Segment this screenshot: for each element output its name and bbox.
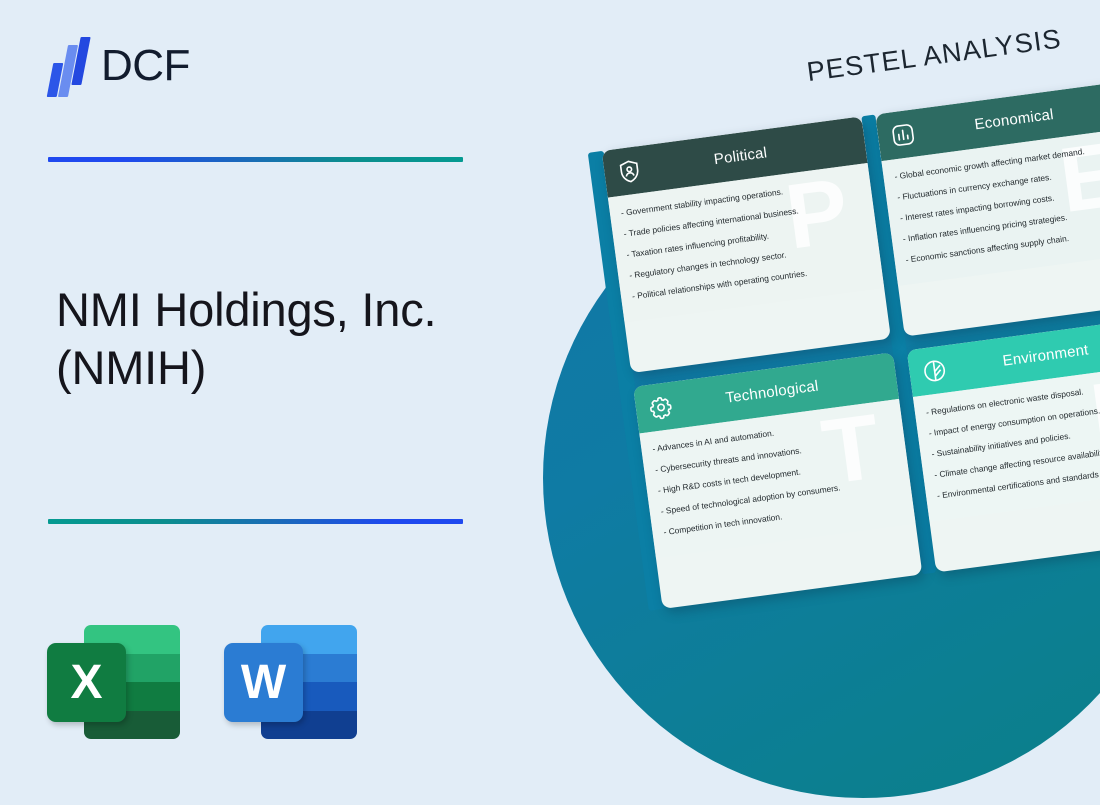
bar-chart-icon	[888, 120, 917, 149]
excel-badge-letter: X	[47, 643, 126, 722]
quadrant-environment[interactable]: Environment E Regulations on electronic …	[907, 316, 1100, 573]
pestel-grid: Political P Government stability impacti…	[602, 82, 1100, 609]
shield-person-icon	[615, 156, 644, 185]
left-info-column: DCF NMI Holdings, Inc. (NMIH) X W	[0, 0, 545, 805]
divider-bottom	[48, 519, 463, 524]
quadrant-political[interactable]: Political P Government stability impacti…	[602, 116, 891, 373]
quadrant-technological-list: Advances in AI and automation. Cybersecu…	[652, 413, 902, 536]
brand-name: DCF	[101, 44, 190, 91]
gear-icon	[646, 392, 675, 421]
pestel-heading: PESTEL ANALYSIS	[805, 23, 1063, 88]
divider-top	[48, 157, 463, 162]
page-title: NMI Holdings, Inc. (NMIH)	[56, 281, 526, 398]
dcf-bars-logo-icon	[46, 36, 92, 98]
excel-export-icon[interactable]: X	[47, 620, 180, 743]
quadrant-economical-title: Economical	[915, 96, 1100, 141]
brand-logo[interactable]: DCF	[46, 36, 190, 98]
quadrant-environment-list: Regulations on electronic waste disposal…	[926, 377, 1100, 500]
word-badge-letter: W	[224, 643, 303, 722]
export-icons: X W	[47, 620, 357, 743]
word-export-icon[interactable]: W	[224, 620, 357, 743]
pestel-analysis-panel: PESTEL ANALYSIS Political P Government s…	[549, 0, 1100, 679]
quadrant-environment-title: Environment	[946, 332, 1100, 377]
quadrant-political-list: Government stability impacting operation…	[620, 177, 870, 300]
leaf-icon	[920, 356, 949, 385]
quadrant-economical[interactable]: Economical E Global economic growth affe…	[875, 80, 1100, 337]
quadrant-economical-list: Global economic growth affecting market …	[894, 141, 1100, 264]
quadrant-technological[interactable]: Technological T Advances in AI and autom…	[633, 352, 922, 609]
